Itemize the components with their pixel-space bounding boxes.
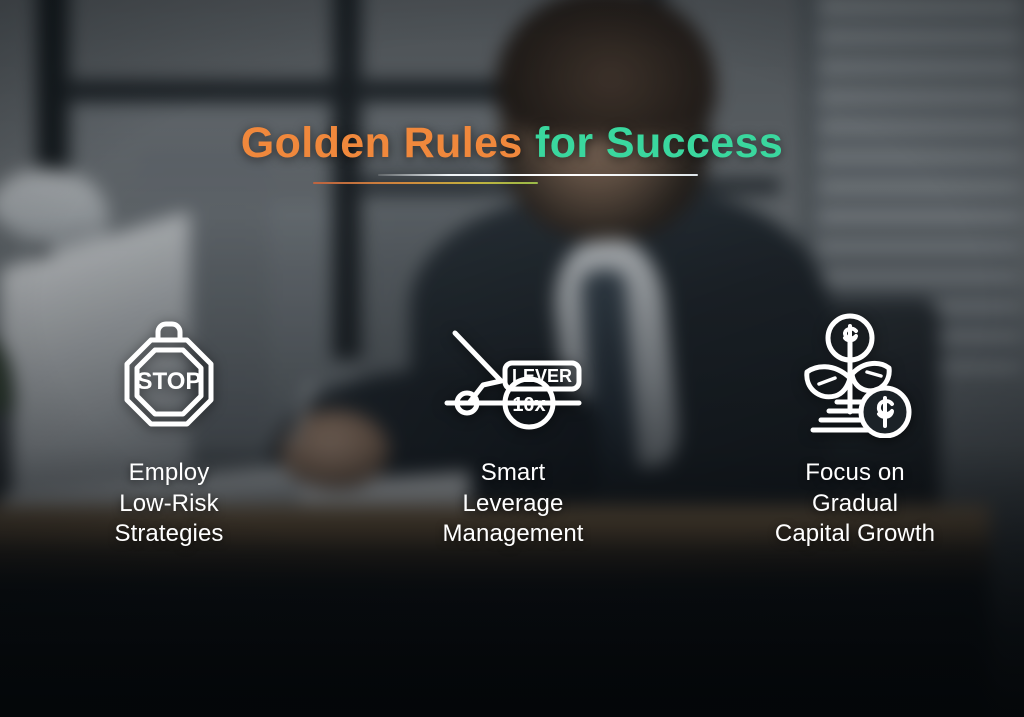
slide-canvas: Golden Rules for Success STOP Employ Low…: [0, 0, 1024, 717]
rule-card-label: Smart Leverage Management: [442, 458, 583, 550]
page-title: Golden Rules for Success: [0, 120, 1024, 167]
dollar-glyph-top: [845, 326, 856, 350]
title-segment-primary: Golden Rules: [241, 119, 535, 167]
slide-content: Golden Rules for Success STOP Employ Low…: [0, 0, 1024, 717]
title-segment-accent: for Success: [535, 119, 783, 167]
lever-icon: LEVER 10x: [443, 310, 583, 440]
stop-icon-text: STOP: [137, 368, 202, 395]
lever-icon-multiplier-text: 10x: [512, 394, 545, 416]
stop-sign-icon: STOP: [113, 310, 225, 440]
rule-card-capital-growth[interactable]: Focus on Gradual Capital Growth: [682, 310, 1024, 550]
money-plant-growth-icon: [793, 310, 917, 440]
rule-card-leverage[interactable]: LEVER 10x Smart Leverage Management: [344, 310, 682, 550]
title-underline-white: [378, 174, 698, 176]
title-underline-gradient: [313, 182, 538, 184]
rule-card-label: Employ Low-Risk Strategies: [114, 458, 223, 550]
rules-row: STOP Employ Low-Risk Strategies: [0, 310, 1024, 550]
rule-card-label: Focus on Gradual Capital Growth: [775, 458, 935, 550]
rule-card-low-risk[interactable]: STOP Employ Low-Risk Strategies: [0, 310, 344, 550]
